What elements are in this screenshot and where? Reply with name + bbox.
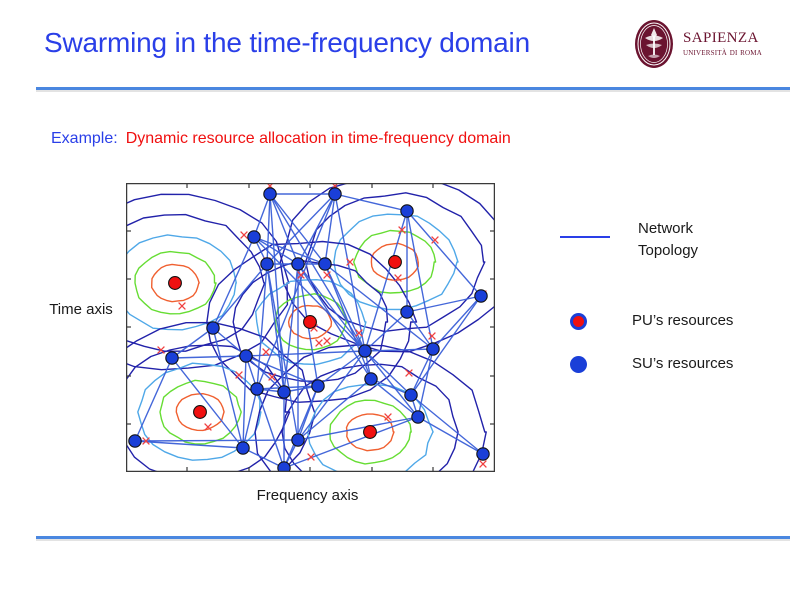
legend-label-su-resources: SU’s resources <box>632 353 733 375</box>
su-node-icon <box>570 356 587 373</box>
logo-wordmark: Sapienza Università di Roma <box>683 23 787 59</box>
legend-label-network-topology: Network Topology <box>638 218 698 262</box>
su-node <box>237 442 249 454</box>
logo-name: Sapienza <box>683 23 787 47</box>
su-node <box>278 462 290 472</box>
plot-svg <box>126 183 495 472</box>
su-node <box>475 290 487 302</box>
pu-node-icon <box>573 316 584 327</box>
su-node <box>319 258 331 270</box>
topology-edge <box>135 440 298 441</box>
su-node <box>261 258 273 270</box>
y-axis-label: Time axis <box>46 300 116 320</box>
pu-node <box>194 406 207 419</box>
su-node <box>278 386 290 398</box>
page-title: Swarming in the time-frequency domain <box>44 26 644 60</box>
su-node <box>329 188 341 200</box>
divider-bottom <box>36 536 790 541</box>
su-node <box>427 343 439 355</box>
su-node <box>129 435 141 447</box>
su-node <box>412 411 424 423</box>
su-node <box>292 434 304 446</box>
su-node <box>401 306 413 318</box>
example-text: Dynamic resource allocation in time-freq… <box>126 130 511 147</box>
network-plot <box>126 183 495 472</box>
su-node <box>264 188 276 200</box>
legend: Network Topology PU’s resources SU’s res… <box>556 218 786 393</box>
example-label: Example: <box>51 130 118 147</box>
logo-subtitle: Università di Roma <box>683 47 787 59</box>
su-node <box>365 373 377 385</box>
slide-canvas: Swarming in the time-frequency domain Sa… <box>0 0 800 599</box>
legend-label-pu-resources: PU’s resources <box>632 310 733 332</box>
pu-node <box>364 426 377 439</box>
su-node <box>359 345 371 357</box>
university-seal-icon <box>633 18 675 70</box>
su-node <box>477 448 489 460</box>
pu-node <box>389 256 402 269</box>
pu-node <box>304 316 317 329</box>
sapienza-logo: Sapienza Università di Roma <box>633 18 785 72</box>
pu-node <box>169 277 182 290</box>
su-node <box>405 389 417 401</box>
su-node <box>401 205 413 217</box>
su-node <box>207 322 219 334</box>
su-node <box>248 231 260 243</box>
su-node <box>312 380 324 392</box>
su-node <box>251 383 263 395</box>
su-node <box>292 258 304 270</box>
su-node <box>166 352 178 364</box>
network-topology-line-icon <box>560 236 610 238</box>
x-axis-label: Frequency axis <box>220 486 395 506</box>
example-caption: Example:Dynamic resource allocation in t… <box>51 128 511 150</box>
divider-top <box>36 87 790 92</box>
su-node <box>240 350 252 362</box>
